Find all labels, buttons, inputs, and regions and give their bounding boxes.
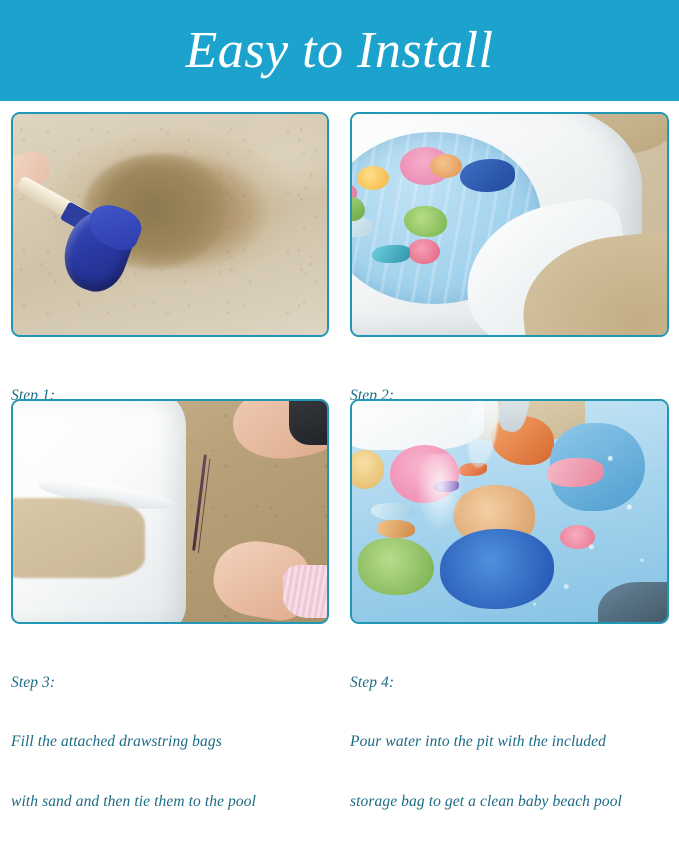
step-3-caption: Step 3: Fill the attached drawstring bag…: [11, 633, 329, 851]
whale-print: [460, 159, 516, 192]
header-banner: Easy to Install: [0, 0, 679, 101]
step-card-4: Step 4: Pour water into the pit with the…: [339, 388, 679, 674]
step-1-photo: [11, 112, 329, 337]
step-3-line-1: Fill the attached drawstring bags: [11, 732, 329, 752]
step-2-photo: [350, 112, 669, 337]
sand-inside-bag: [11, 498, 145, 578]
step-card-1: Step 1: Dig a suitable pit on the beach: [0, 101, 339, 388]
page-title: Easy to Install: [186, 25, 494, 77]
step-4-photo: [350, 399, 669, 624]
step-4-caption: Step 4: Pour water into the pit with the…: [350, 633, 669, 851]
pufferfish-print: [357, 166, 389, 190]
pink-sleeve: [283, 565, 329, 618]
step-4-label: Step 4:: [350, 673, 669, 693]
step-card-2: Step 2: Lay the kids beach pool on the p…: [339, 101, 679, 388]
steps-grid: Step 1: Dig a suitable pit on the beach: [0, 101, 679, 674]
step-card-3: Step 3: Fill the attached drawstring bag…: [0, 388, 339, 674]
step-4-line-2: storage bag to get a clean baby beach po…: [350, 792, 669, 812]
step-4-line-1: Pour water into the pit with the include…: [350, 732, 669, 752]
step-3-photo: [11, 399, 329, 624]
orange-fish-print: [430, 154, 462, 178]
step-3-line-2: with sand and then tie them to the pool: [11, 792, 329, 812]
turtle-print: [404, 206, 447, 237]
step-3-label: Step 3:: [11, 673, 329, 693]
dark-sleeve: [289, 399, 329, 445]
dolphin-print: [372, 245, 411, 262]
